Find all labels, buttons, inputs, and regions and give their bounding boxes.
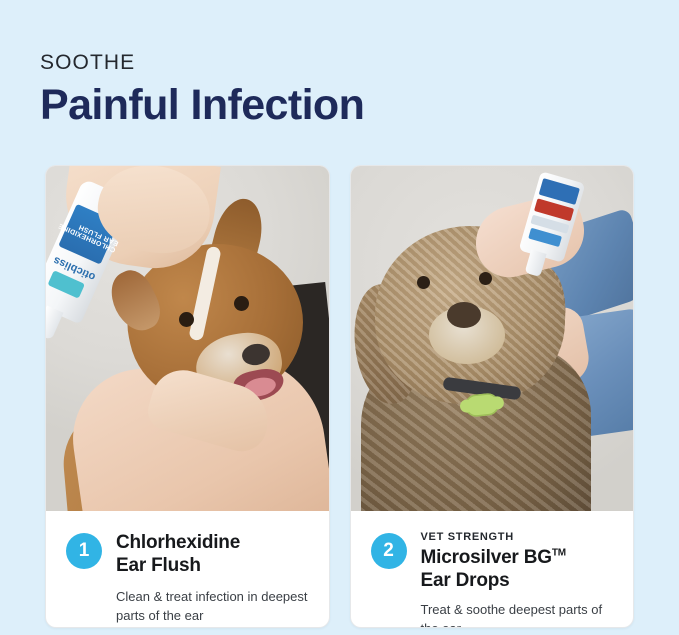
caption-text-2: VET STRENGTH Microsilver BGTM Ear Drops …	[421, 531, 616, 628]
caption-text-1: Chlorhexidine Ear Flush Clean & treat in…	[116, 531, 311, 625]
product-title-2: Microsilver BGTM Ear Drops	[421, 546, 616, 592]
product-title-line2: Ear Drops	[421, 570, 510, 591]
dog-eye-right	[234, 296, 249, 311]
product-description-2: Treat & soothe deepest parts of the ear	[421, 601, 616, 628]
step-badge-2: 2	[371, 533, 407, 569]
product-title-line1: Microsilver BG	[421, 547, 552, 568]
product-caption-1: 1 Chlorhexidine Ear Flush Clean & treat …	[46, 511, 329, 627]
product-card-2[interactable]: 2 VET STRENGTH Microsilver BGTM Ear Drop…	[350, 165, 635, 628]
product-description-1: Clean & treat infection in deepest parts…	[116, 588, 311, 625]
product-caption-2: 2 VET STRENGTH Microsilver BGTM Ear Drop…	[351, 511, 634, 628]
header-eyebrow: SOOTHE	[40, 52, 364, 73]
product-title-line1: Chlorhexidine	[116, 532, 240, 553]
product-card-1[interactable]: CHLORHEXIDINE EAR FLUSH oticbliss 1 Chlo…	[45, 165, 330, 628]
product-title-line2: Ear Flush	[116, 555, 201, 576]
product-title-1: Chlorhexidine Ear Flush	[116, 531, 311, 577]
step-badge-1: 1	[66, 533, 102, 569]
product-card-row: CHLORHEXIDINE EAR FLUSH oticbliss 1 Chlo…	[45, 165, 634, 628]
dog-eye-left	[179, 312, 194, 327]
header-block: SOOTHE Painful Infection	[40, 52, 364, 128]
product-eyebrow-2: VET STRENGTH	[421, 531, 616, 543]
dog-eye-left	[417, 276, 430, 289]
product-photo-1: CHLORHEXIDINE EAR FLUSH oticbliss	[46, 166, 329, 511]
trademark-symbol: TM	[552, 548, 566, 559]
dog-nose	[447, 302, 481, 328]
page-title: Painful Infection	[40, 83, 364, 128]
dog-eye-right	[479, 272, 492, 285]
product-photo-2	[351, 166, 634, 511]
